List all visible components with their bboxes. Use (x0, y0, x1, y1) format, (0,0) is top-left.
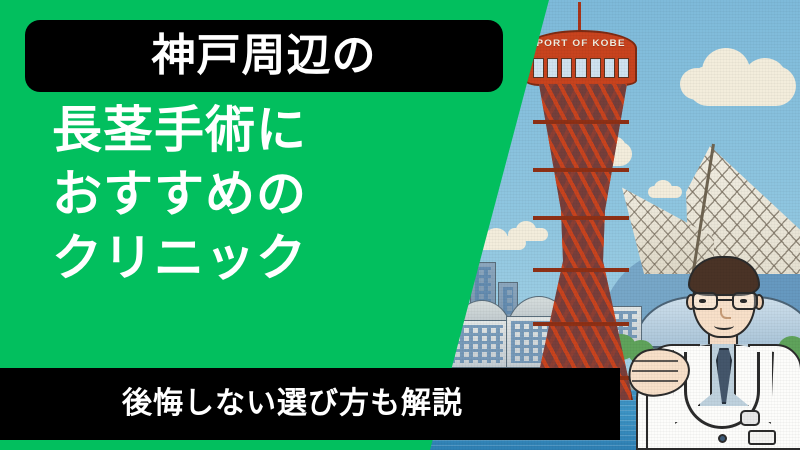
doctor-eye-left (699, 299, 706, 303)
kicker-badge: 神戸周辺の (25, 20, 503, 92)
stethoscope-bell-icon (740, 410, 760, 426)
doctor-id-badge (748, 430, 776, 445)
subtitle-label: 後悔しない選び方も解説 (122, 389, 463, 419)
headline-line-2: おすすめの (52, 162, 472, 226)
tower-observation-deck: PORT OF KOBE (525, 30, 637, 86)
doctor-finger-lines (632, 350, 690, 390)
doctor-mouth (714, 321, 734, 330)
cloud-large (688, 66, 796, 106)
tower-deck-windows (533, 58, 629, 80)
tower-spire (578, 2, 581, 32)
subtitle-bar: 後悔しない選び方も解説 (0, 368, 620, 440)
kicker-label: 神戸周辺の (152, 34, 377, 78)
headline-block: 長茎手術に おすすめの クリニック (52, 98, 472, 290)
tower-deck-label: PORT OF KOBE (527, 38, 635, 48)
doctor-character (636, 248, 800, 450)
doctor-coat-button (718, 434, 727, 443)
thumbnail-canvas: PORT OF KOBE (0, 0, 800, 450)
doctor-eye-right (740, 299, 747, 303)
doctor-hair (688, 256, 760, 296)
headline-line-3: クリニック (52, 226, 472, 290)
headline-line-1: 長茎手術に (52, 98, 472, 162)
tower-rings (533, 84, 629, 400)
doctor-nose (720, 308, 731, 319)
